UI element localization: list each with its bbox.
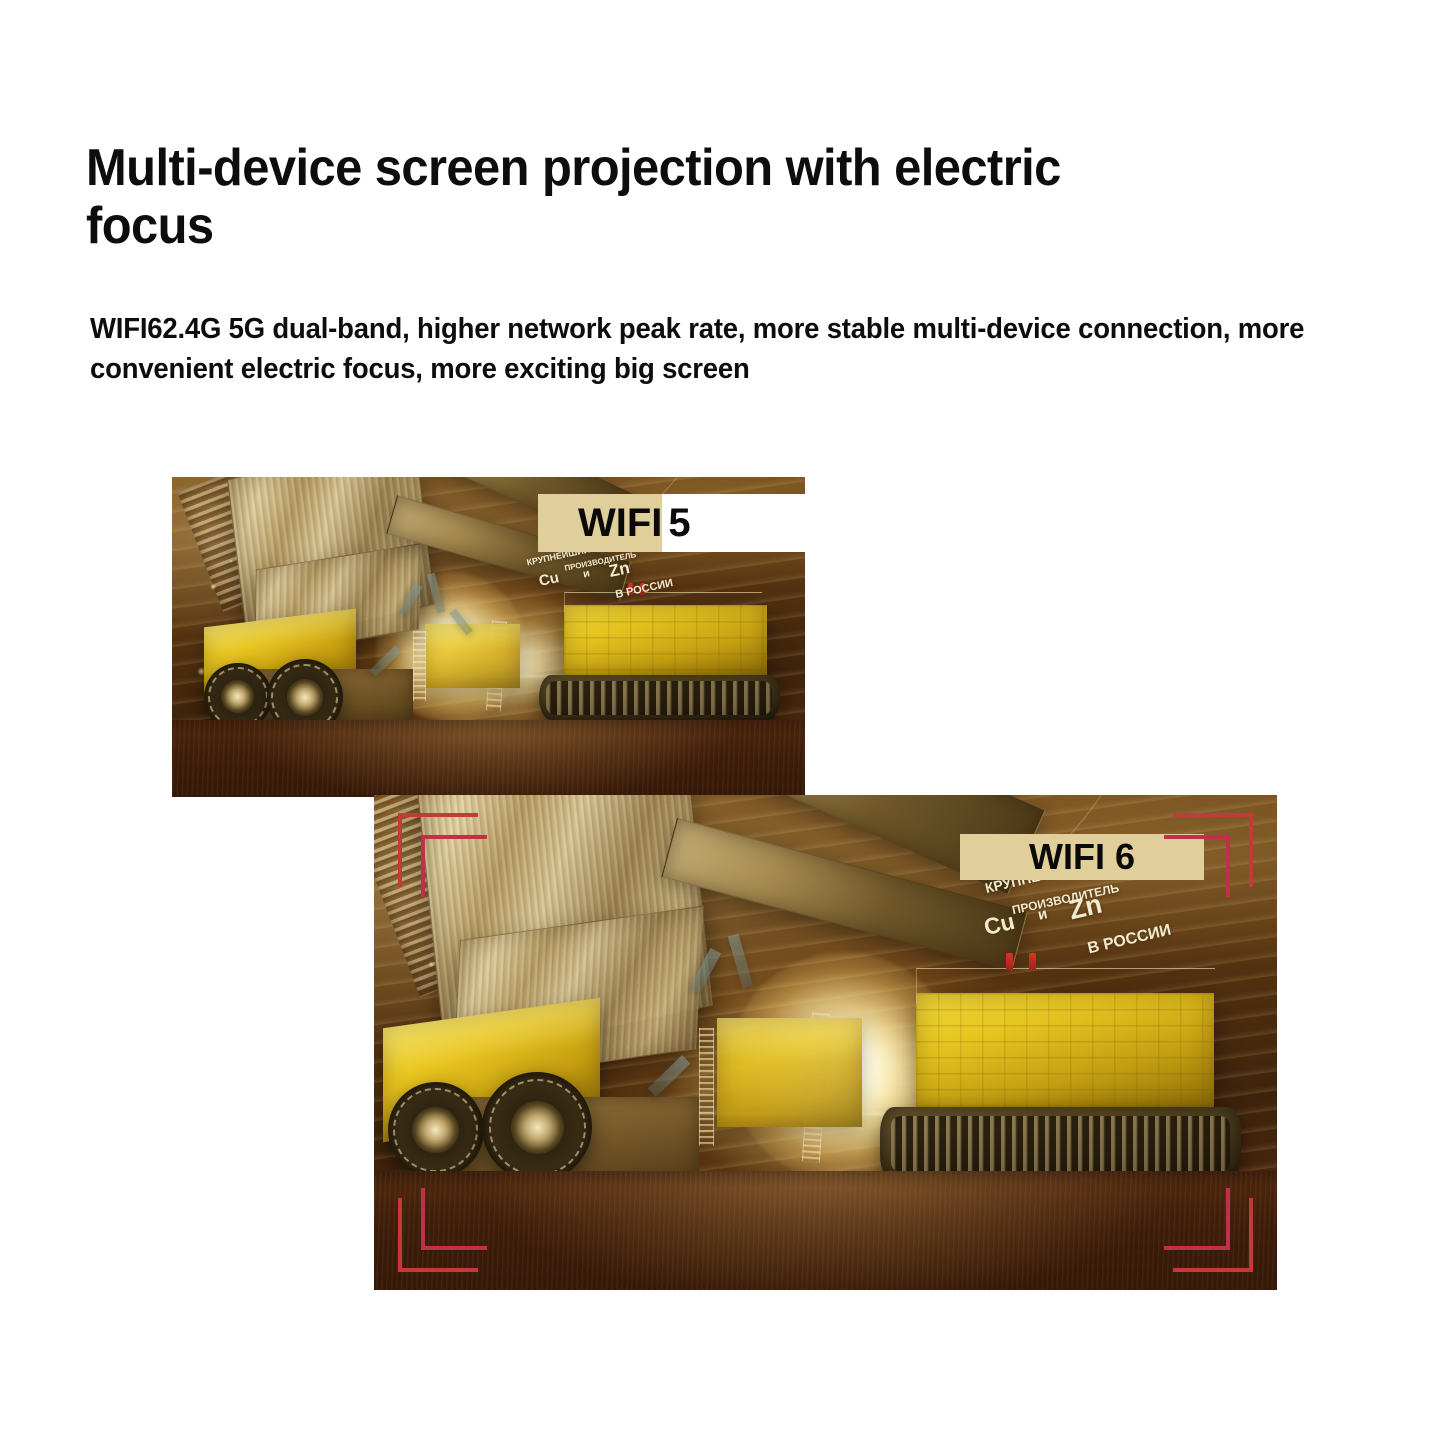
wifi5-label-chip: WIFI 5 xyxy=(538,494,805,552)
mine-ground xyxy=(172,720,805,797)
page-title: Multi-device screen projection with elec… xyxy=(86,139,1195,255)
wifi5-label-prefix-segment: WIFI xyxy=(538,494,662,552)
shovel-crawler-track xyxy=(539,675,780,720)
wifi6-label-chip: WIFI 6 xyxy=(960,834,1204,880)
shovel-handrail xyxy=(564,592,761,612)
worker-figure xyxy=(1029,953,1036,970)
wifi6-label-value: 6 xyxy=(1115,839,1135,875)
worker-figure xyxy=(640,583,645,595)
wifi5-label-prefix: WIFI xyxy=(578,503,662,543)
background-truck-ladder xyxy=(413,631,426,701)
truck-wheel-rear xyxy=(388,1082,484,1178)
wifi6-label-segment: WIFI 6 xyxy=(960,834,1204,880)
headline-block: Multi-device screen projection with elec… xyxy=(86,139,1266,255)
wifi6-label-prefix: WIFI xyxy=(1029,839,1105,875)
background-truck xyxy=(717,1018,861,1127)
background-truck xyxy=(425,624,520,688)
shovel-crawler-track xyxy=(880,1107,1241,1181)
shovel-house xyxy=(564,605,767,679)
truck-wheel-front xyxy=(482,1072,592,1182)
background-truck-ladder xyxy=(699,1028,714,1147)
wifi6-comparison-image: КРУПНЕЙШИЙ ПРОИЗВОДИТЕЛЬ Cu и Zn В РОССИ… xyxy=(374,795,1277,1290)
wifi5-comparison-image: КРУПНЕЙШИЙ ПРОИЗВОДИТЕЛЬ Cu и Zn В РОССИ… xyxy=(172,477,805,797)
mine-ground xyxy=(374,1171,1277,1290)
worker-figure xyxy=(1006,953,1013,970)
wifi5-label-value: 5 xyxy=(668,503,690,543)
worker-figure xyxy=(628,583,633,595)
shovel-house xyxy=(916,993,1214,1112)
page-subtitle: WIFI62.4G 5G dual-band, higher network p… xyxy=(90,309,1316,390)
wifi5-label-value-segment: 5 xyxy=(662,494,805,552)
shovel-handrail xyxy=(916,968,1215,1004)
